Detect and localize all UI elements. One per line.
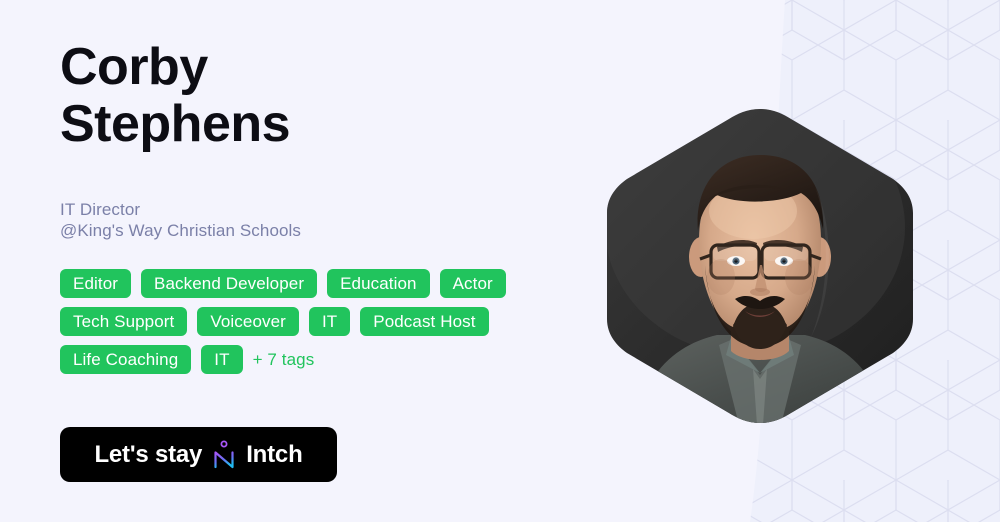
tag-chip[interactable]: Education: [327, 269, 430, 298]
tag-chip[interactable]: Voiceover: [197, 307, 299, 336]
tag-chip[interactable]: Backend Developer: [141, 269, 317, 298]
page-title: Corby Stephens: [60, 39, 290, 153]
cta-brand-label: Intch: [246, 441, 302, 469]
profile-role: IT Director: [60, 199, 301, 220]
profile-photo-svg: [605, 107, 915, 425]
profile-subtitle: IT Director @King's Way Christian School…: [60, 199, 301, 241]
tag-chip[interactable]: Tech Support: [60, 307, 187, 336]
intch-n-logo-icon: [211, 440, 237, 470]
tag-chip[interactable]: Actor: [440, 269, 506, 298]
tag-chip[interactable]: IT: [309, 307, 350, 336]
profile-photo: [605, 107, 915, 425]
lets-stay-intch-button[interactable]: Let's stay Intch: [60, 427, 337, 482]
profile-card: Corby Stephens IT Director @King's Way C…: [0, 0, 1000, 522]
profile-organization: @King's Way Christian Schools: [60, 220, 301, 241]
tag-list: Editor Backend Developer Education Actor…: [60, 269, 580, 374]
tag-chip[interactable]: Life Coaching: [60, 345, 191, 374]
tag-chip[interactable]: Podcast Host: [360, 307, 488, 336]
cta-prefix-label: Let's stay: [94, 441, 202, 469]
tag-chip[interactable]: Editor: [60, 269, 131, 298]
profile-content: Corby Stephens IT Director @King's Way C…: [60, 0, 620, 522]
more-tags-label[interactable]: + 7 tags: [253, 351, 315, 368]
tag-chip[interactable]: IT: [201, 345, 242, 374]
